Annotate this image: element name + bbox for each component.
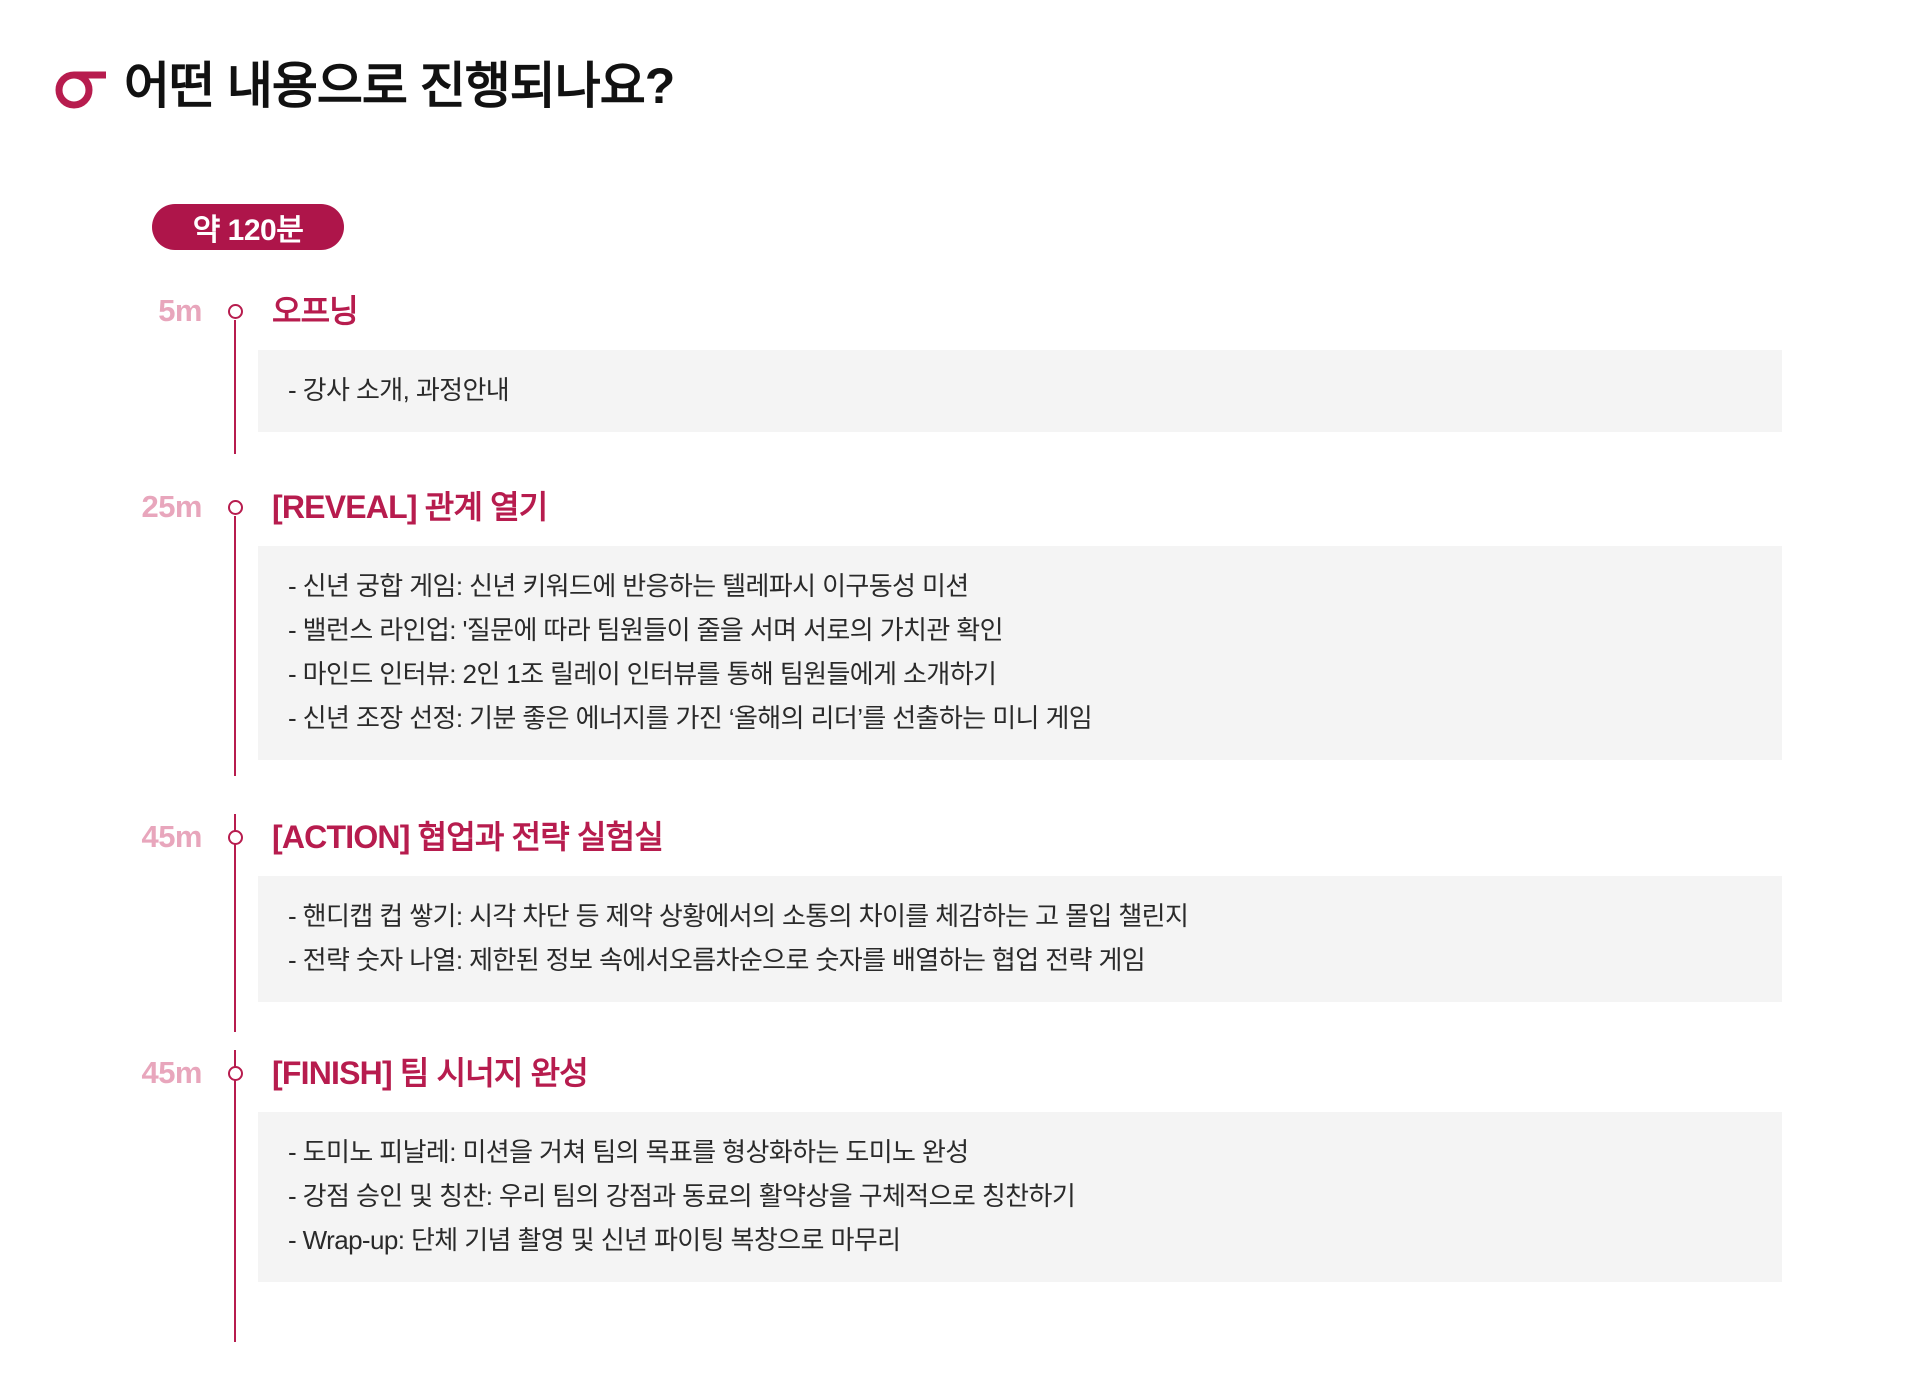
timeline-detail-box: - 신년 궁합 게임: 신년 키워드에 반응하는 텔레파시 이구동성 미션 - … [258, 546, 1782, 760]
duration-badge: 약 120분 [152, 204, 344, 250]
detail-line: - Wrap-up: 단체 기념 촬영 및 신년 파이팅 복창으로 마무리 [288, 1218, 1752, 1262]
spacer [0, 760, 1920, 814]
page-title: 어떤 내용으로 진행되나요? [124, 59, 674, 114]
page-header: 어떤 내용으로 진행되나요? [52, 58, 674, 114]
timeline-item-head: 25m [REVEAL] 관계 열기 [0, 484, 1920, 530]
timeline-dot-icon [228, 500, 243, 515]
timeline-time-label: 5m [0, 288, 202, 334]
sigma-logo-icon [52, 58, 106, 114]
timeline-time-label: 45m [0, 814, 202, 860]
timeline-dot-icon [228, 304, 243, 319]
timeline-time-label: 45m [0, 1050, 202, 1096]
detail-line: - 밸런스 라인업: '질문에 따라 팀원들이 줄을 서며 서로의 가치관 확인 [288, 608, 1752, 652]
detail-line: - 강점 승인 및 칭찬: 우리 팀의 강점과 동료의 활약상을 구체적으로 칭… [288, 1174, 1752, 1218]
slide-root: 어떤 내용으로 진행되나요? 약 120분 5m 오프닝 - 강사 소개, 과정… [0, 0, 1920, 1388]
timeline-detail-box: - 핸디캡 컵 쌓기: 시각 차단 등 제약 상황에서의 소통의 차이를 체감하… [258, 876, 1782, 1002]
timeline-heading: [FINISH] 팀 시너지 완성 [272, 1050, 588, 1096]
timeline-detail-box: - 도미노 피날레: 미션을 거쳐 팀의 목표를 형상화하는 도미노 완성 - … [258, 1112, 1782, 1282]
timeline-item: 45m [ACTION] 협업과 전략 실험실 - 핸디캡 컵 쌓기: 시각 차… [0, 814, 1920, 1002]
timeline-item: 45m [FINISH] 팀 시너지 완성 - 도미노 피날레: 미션을 거쳐 … [0, 1050, 1920, 1282]
detail-line: - 전략 숫자 나열: 제한된 정보 속에서오름차순으로 숫자를 배열하는 협업… [288, 938, 1752, 982]
timeline: 5m 오프닝 - 강사 소개, 과정안내 25m [REVEAL] 관계 열기 … [0, 288, 1920, 1322]
timeline-rail [234, 516, 236, 776]
timeline-item-head: 45m [FINISH] 팀 시너지 완성 [0, 1050, 1920, 1096]
timeline-time-label: 25m [0, 484, 202, 530]
timeline-dot-icon [228, 1066, 243, 1081]
detail-line: - 신년 조장 선정: 기분 좋은 에너지를 가진 ‘올해의 리더’를 선출하는… [288, 696, 1752, 740]
timeline-item: 5m 오프닝 - 강사 소개, 과정안내 [0, 288, 1920, 432]
detail-line: - 신년 궁합 게임: 신년 키워드에 반응하는 텔레파시 이구동성 미션 [288, 564, 1752, 608]
timeline-item: 25m [REVEAL] 관계 열기 - 신년 궁합 게임: 신년 키워드에 반… [0, 484, 1920, 760]
timeline-dot-icon [228, 830, 243, 845]
detail-line: - 마인드 인터뷰: 2인 1조 릴레이 인터뷰를 통해 팀원들에게 소개하기 [288, 652, 1752, 696]
spacer [0, 1282, 1920, 1322]
detail-line: - 도미노 피날레: 미션을 거쳐 팀의 목표를 형상화하는 도미노 완성 [288, 1130, 1752, 1174]
detail-line: - 강사 소개, 과정안내 [288, 368, 1752, 412]
timeline-heading: [REVEAL] 관계 열기 [272, 484, 547, 530]
timeline-heading: [ACTION] 협업과 전략 실험실 [272, 814, 663, 860]
timeline-item-head: 5m 오프닝 [0, 288, 1920, 334]
timeline-heading: 오프닝 [272, 288, 358, 334]
spacer [0, 432, 1920, 484]
timeline-rail [234, 320, 236, 454]
spacer [0, 1002, 1920, 1050]
detail-line: - 핸디캡 컵 쌓기: 시각 차단 등 제약 상황에서의 소통의 차이를 체감하… [288, 894, 1752, 938]
timeline-detail-box: - 강사 소개, 과정안내 [258, 350, 1782, 432]
timeline-item-head: 45m [ACTION] 협업과 전략 실험실 [0, 814, 1920, 860]
